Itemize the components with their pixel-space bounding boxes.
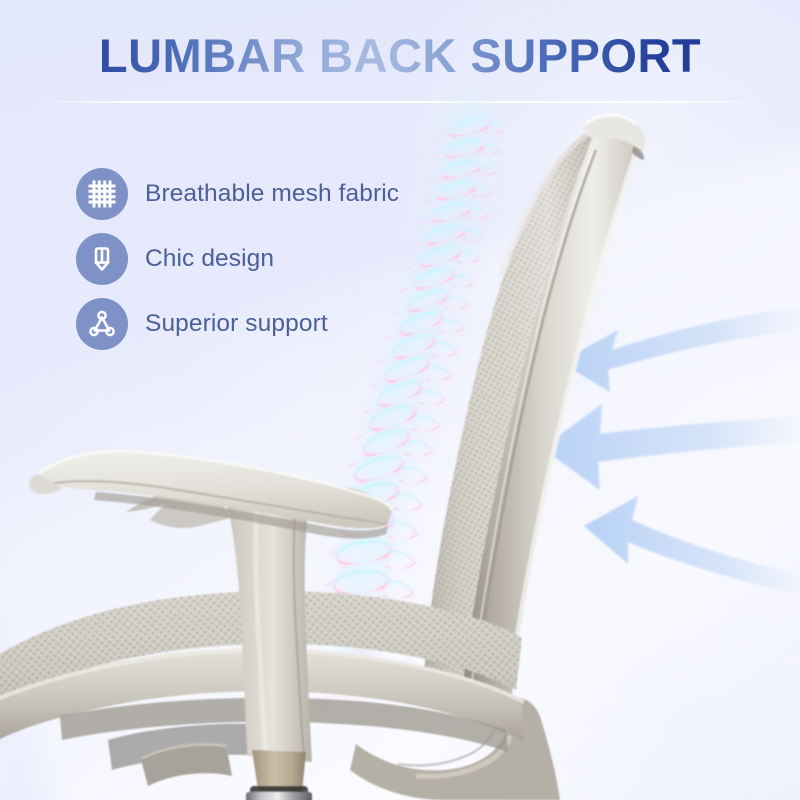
feature-item-chic-design[interactable]: Chic design	[76, 233, 399, 285]
pencil-icon	[76, 233, 128, 285]
page-title: LUMBAR BACK SUPPORT	[0, 32, 800, 79]
header-divider	[38, 101, 762, 103]
feature-list: Breathable mesh fabric Chic design	[76, 168, 399, 350]
feature-item-breathable-mesh[interactable]: Breathable mesh fabric	[76, 168, 399, 220]
network-triangle-icon	[76, 298, 128, 350]
product-banner: LUMBAR BACK SUPPORT	[0, 0, 800, 800]
feature-label: Chic design	[145, 245, 274, 273]
mesh-grid-icon	[76, 168, 128, 220]
feature-label: Superior support	[145, 310, 328, 338]
feature-item-superior-support[interactable]: Superior support	[76, 298, 399, 350]
feature-label: Breathable mesh fabric	[145, 180, 399, 208]
